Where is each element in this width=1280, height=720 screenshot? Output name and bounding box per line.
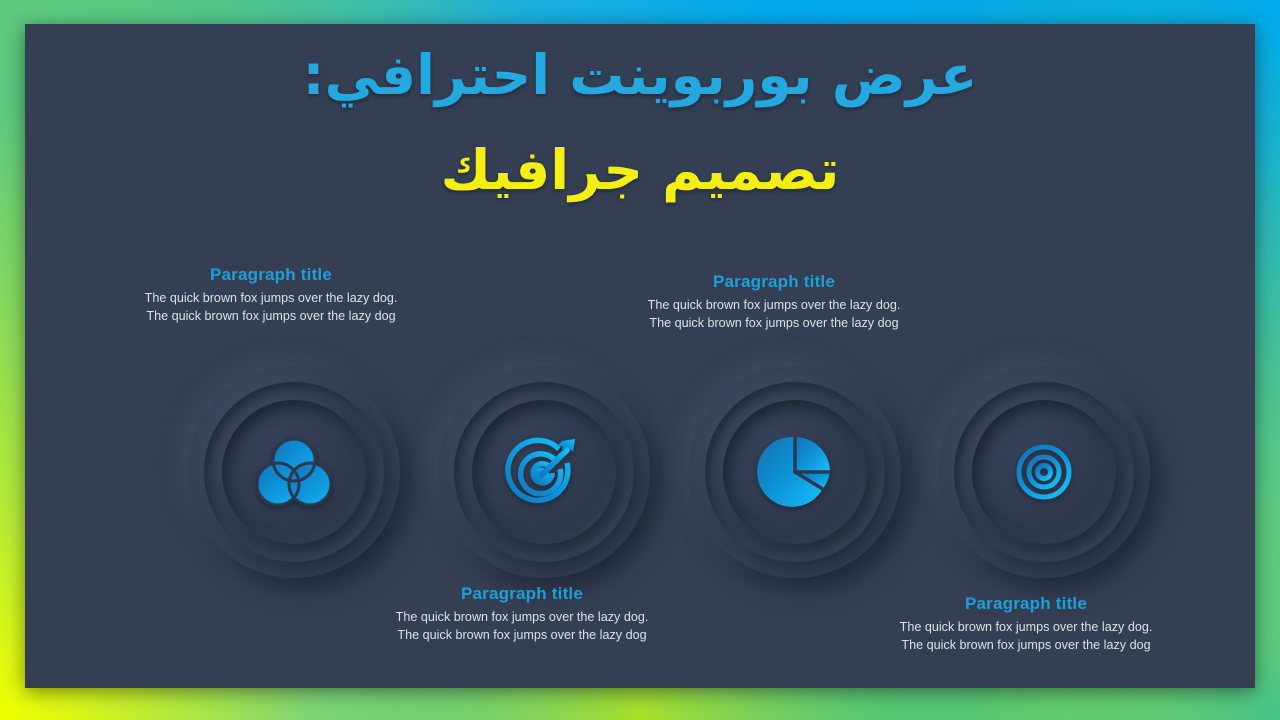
text-block-1: Paragraph title The quick brown fox jump… [142, 265, 400, 325]
paragraph-title: Paragraph title [897, 594, 1155, 614]
paragraph-body: The quick brown fox jumps over the lazy … [142, 290, 400, 325]
medallion-2[interactable] [438, 366, 650, 578]
text-block-2: Paragraph title The quick brown fox jump… [393, 584, 651, 644]
paragraph-title: Paragraph title [645, 272, 903, 292]
slide-title-sub: تصميم جرافيك [25, 139, 1255, 202]
presentation-slide: عرض بوربوينت احترافي: تصميم جرافيك [25, 24, 1255, 688]
target-arrow-icon [499, 427, 589, 517]
text-block-4: Paragraph title The quick brown fox jump… [897, 594, 1155, 654]
paragraph-body: The quick brown fox jumps over the lazy … [645, 297, 903, 332]
paragraph-title: Paragraph title [393, 584, 651, 604]
paragraph-title: Paragraph title [142, 265, 400, 285]
slide-title-main: عرض بوربوينت احترافي: [25, 44, 1255, 107]
medallion-1[interactable] [188, 366, 400, 578]
paragraph-body: The quick brown fox jumps over the lazy … [897, 619, 1155, 654]
slide-backdrop: عرض بوربوينت احترافي: تصميم جرافيك [0, 0, 1280, 720]
crosshair-icon [999, 427, 1089, 517]
pie-chart-icon [750, 427, 840, 517]
medallion-4[interactable] [938, 366, 1150, 578]
medallion-3[interactable] [689, 366, 901, 578]
text-block-3: Paragraph title The quick brown fox jump… [645, 272, 903, 332]
paragraph-body: The quick brown fox jumps over the lazy … [393, 609, 651, 644]
venn-circles-icon [249, 427, 339, 517]
